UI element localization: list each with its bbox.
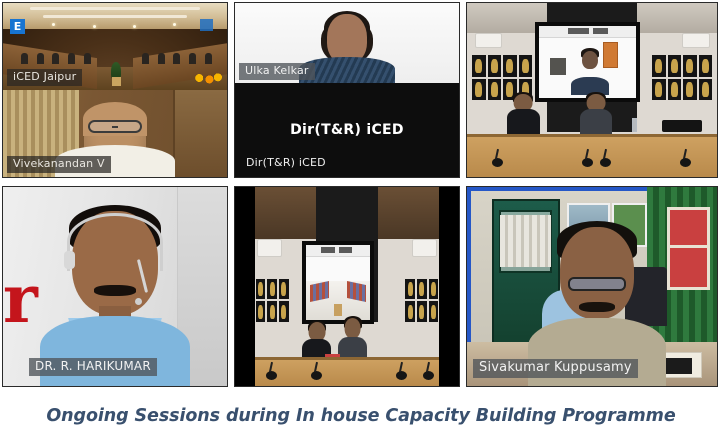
feed-sivakumar-kuppusamy[interactable]: Sivakumar Kuppusamy <box>467 187 717 386</box>
plaque <box>668 55 682 77</box>
air-conditioner-unit <box>475 33 503 49</box>
moustache <box>579 302 615 312</box>
plaque <box>417 279 427 300</box>
caption-text: Ongoing Sessions during In house Capacit… <box>46 406 675 426</box>
feed-dir-tr-iced[interactable]: Dir(T&R) iCED Dir(T&R) iCED <box>235 83 459 177</box>
seated-person <box>158 53 165 64</box>
air-conditioner-unit <box>412 239 437 257</box>
water-bottle <box>632 118 637 132</box>
conference-table <box>467 135 717 177</box>
plaque <box>279 279 289 300</box>
wall-artwork <box>603 42 619 68</box>
tile-frame <box>234 186 460 387</box>
flower-arrangement <box>189 71 223 85</box>
tile-frame: Ulka Kelkar Dir(T&R) iCED Dir(T&R) iCED <box>234 2 460 178</box>
video-tile-boardroom-hall[interactable] <box>232 184 464 389</box>
plaque <box>417 301 427 322</box>
plaque <box>488 79 502 101</box>
video-tile-boardroom-speaker[interactable] <box>464 0 722 180</box>
seated-person <box>21 53 28 64</box>
slide-header-strip <box>306 245 370 257</box>
plaque <box>279 301 289 322</box>
plaque <box>256 301 266 322</box>
seated-person <box>205 53 212 64</box>
cabinet-files <box>500 215 551 267</box>
letterbox-bar-left <box>235 187 255 386</box>
headset-band-icon <box>67 213 163 271</box>
video-tile-sivakumar-kuppusamy[interactable]: Sivakumar Kuppusamy <box>464 184 722 389</box>
torso <box>507 109 540 135</box>
seated-person <box>84 53 91 64</box>
header-chip <box>339 247 352 253</box>
furniture-block <box>550 58 566 75</box>
plaque <box>429 301 439 322</box>
plaque <box>519 55 533 77</box>
remote-speaker-face <box>582 51 598 70</box>
plaque <box>488 55 502 77</box>
plaque <box>472 55 486 77</box>
slide-seated-row-left <box>310 280 329 301</box>
r-watermark-icon: r <box>3 279 38 320</box>
slide-seated-row-right <box>347 280 366 301</box>
plaque <box>405 279 415 300</box>
plaque <box>267 279 277 300</box>
plaque <box>503 55 517 77</box>
moustache <box>94 285 136 296</box>
boardroom-scene <box>467 3 717 177</box>
nameplate <box>662 120 702 132</box>
video-tile-dr-harikumar[interactable]: r DR. R. HARIKUMAR <box>0 184 232 389</box>
seated-person <box>173 53 180 64</box>
plaque <box>405 301 415 322</box>
plaque <box>256 279 266 300</box>
slide-podium <box>334 304 342 316</box>
tile-frame: E iCED Jaipur Vivekanandan V <box>2 2 228 178</box>
plaque <box>652 79 666 101</box>
tile-frame <box>466 2 718 178</box>
headset-earcup-icon <box>64 251 75 269</box>
plaque <box>699 79 713 101</box>
screenshot-page: E iCED Jaipur Vivekanandan V <box>0 0 722 443</box>
plaque <box>699 55 713 77</box>
screen-glow <box>200 19 213 31</box>
ceiling-light-strip <box>43 15 186 18</box>
feed-iced-jaipur[interactable]: E iCED Jaipur <box>3 3 227 90</box>
spectacles <box>88 120 142 133</box>
wall-panel <box>173 90 227 177</box>
air-conditioner-unit <box>257 239 282 257</box>
seated-official-right <box>580 94 613 136</box>
participant-name-badge: Vivekanandan V <box>7 156 111 173</box>
seated-person <box>52 53 59 64</box>
tile-frame: r DR. R. HARIKUMAR <box>2 186 228 387</box>
seated-person <box>68 53 75 64</box>
feed-dr-harikumar[interactable]: r DR. R. HARIKUMAR <box>3 187 227 386</box>
plaque <box>683 79 697 101</box>
plaque <box>472 79 486 101</box>
video-collage-grid: E iCED Jaipur Vivekanandan V <box>0 0 722 389</box>
air-conditioner-unit <box>682 33 710 49</box>
plaque <box>652 55 666 77</box>
projection-screen <box>535 22 640 102</box>
plaque <box>429 279 439 300</box>
ceiling-spot <box>93 25 96 28</box>
participant-name-badge: Dir(T&R) iCED <box>240 155 332 172</box>
desk-device <box>665 358 693 374</box>
letterbox-bar-right <box>439 187 459 386</box>
camera-off-name-text: Dir(T&R) iCED <box>290 122 404 138</box>
table-microphone <box>582 158 593 167</box>
table-microphone <box>680 158 691 167</box>
video-tile-iced-jaipur[interactable]: E iCED Jaipur Vivekanandan V <box>0 0 232 180</box>
plant-pot <box>112 77 121 86</box>
caption-bar: Ongoing Sessions during In house Capacit… <box>0 389 722 443</box>
tile-frame: Sivakumar Kuppusamy <box>466 186 718 387</box>
award-plaques-right <box>652 55 712 100</box>
seated-person <box>189 53 196 64</box>
seated-person <box>37 53 44 64</box>
feed-ulka-kelkar[interactable]: Ulka Kelkar <box>235 3 459 83</box>
participant-name-badge: Sivakumar Kuppusamy <box>473 359 638 378</box>
ceiling-spot <box>133 25 136 28</box>
participant-name-badge: iCED Jaipur <box>7 69 82 86</box>
slide-header-strip <box>539 26 636 38</box>
feed-vivekanandan[interactable]: Vivekanandan V <box>3 90 227 177</box>
stacked-feeds: Ulka Kelkar Dir(T&R) iCED Dir(T&R) iCED <box>235 3 459 177</box>
plaque <box>267 301 277 322</box>
plaque <box>683 55 697 77</box>
projection-screen <box>302 241 374 325</box>
table-microphone <box>492 158 503 167</box>
header-chip <box>568 28 589 34</box>
ceiling-light-strip <box>30 7 200 10</box>
header-chip <box>321 247 335 253</box>
seated-official-left <box>507 94 540 136</box>
table-microphone <box>600 158 611 167</box>
participant-name-badge: Ulka Kelkar <box>239 63 315 80</box>
spectacles <box>568 277 626 291</box>
window <box>667 207 710 291</box>
participant-name-badge: DR. R. HARIKUMAR <box>29 358 157 376</box>
video-tile-ulka-kelkar[interactable]: Ulka Kelkar Dir(T&R) iCED Dir(T&R) iCED <box>232 0 464 180</box>
torso <box>580 109 613 135</box>
boardroom-scene <box>235 187 459 386</box>
seated-person <box>142 53 149 64</box>
stacked-feeds: E iCED Jaipur Vivekanandan V <box>3 3 227 177</box>
plaque <box>668 79 682 101</box>
header-chip <box>593 28 609 34</box>
iced-logo-icon: E <box>10 19 25 34</box>
